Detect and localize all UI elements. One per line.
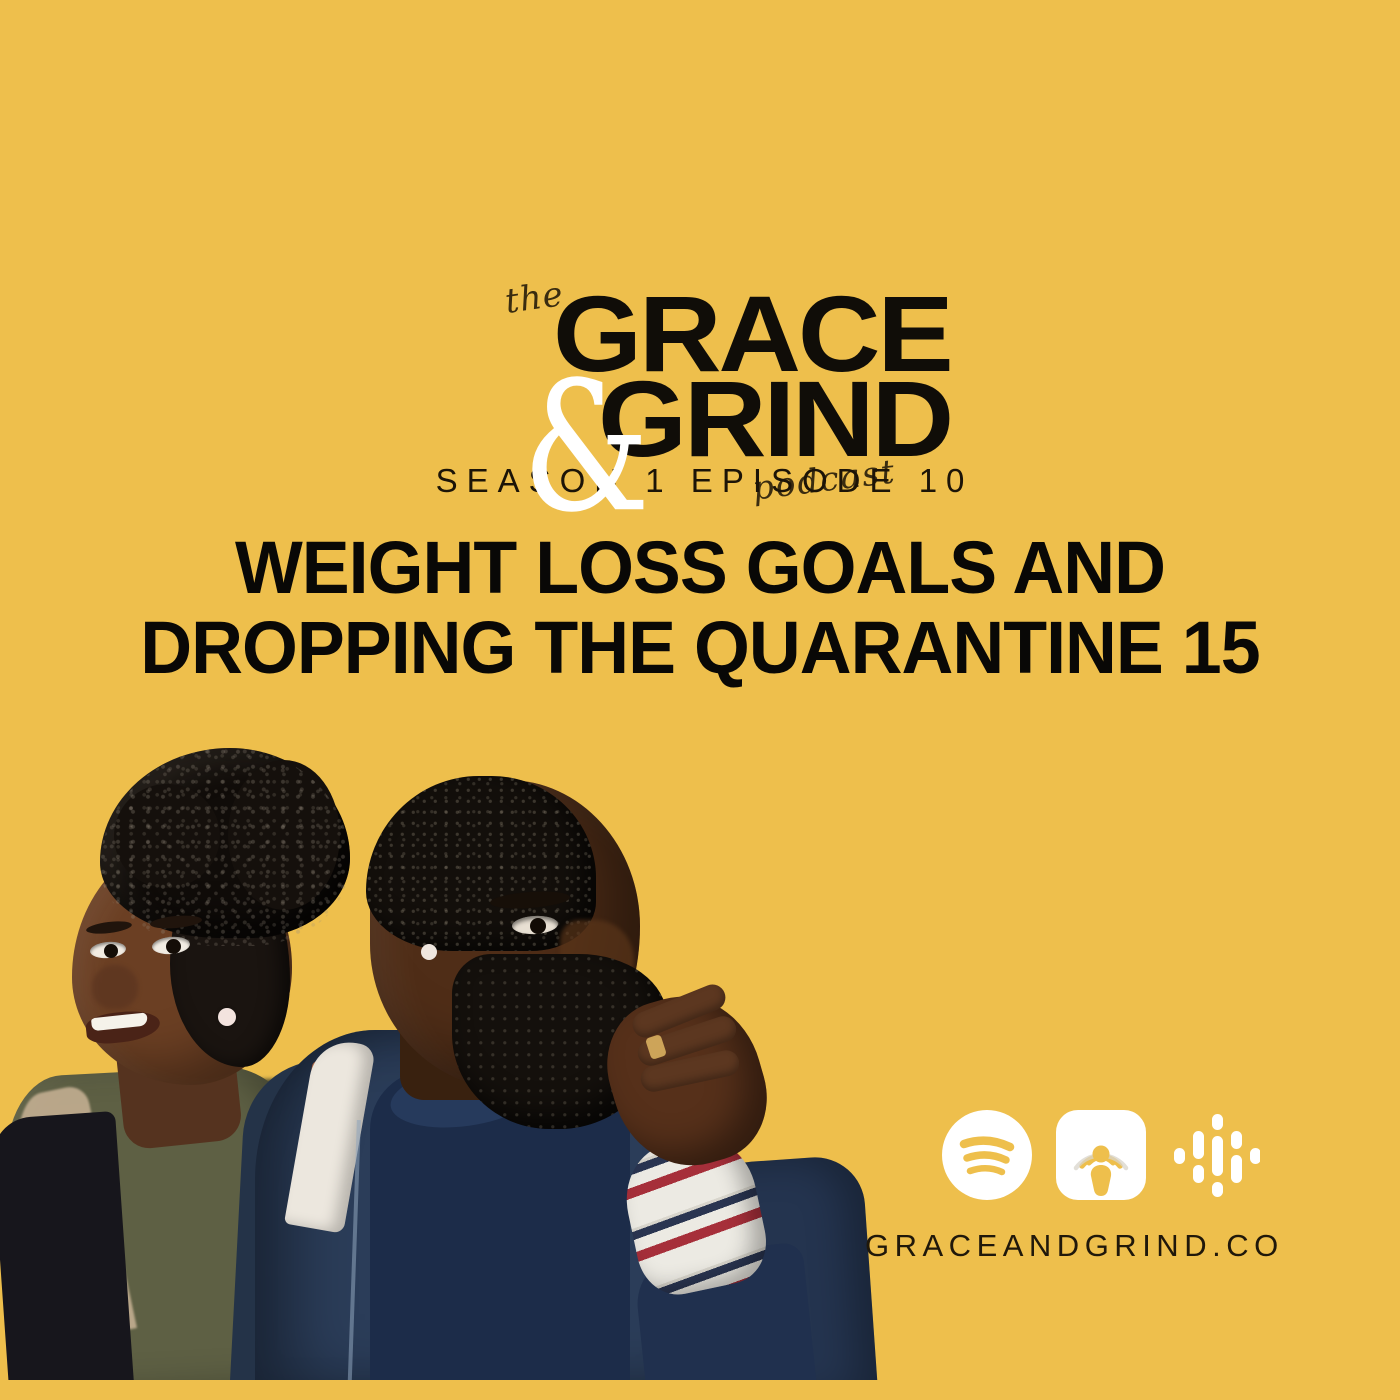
host-left-teeth xyxy=(91,1012,148,1031)
logo-ampersand-icon: & xyxy=(522,358,650,537)
host-left-pupil-right xyxy=(166,939,181,954)
host-left-pupil-left xyxy=(104,944,118,958)
host-left-earring xyxy=(218,1008,236,1026)
episode-title-line-1: WEIGHT LOSS GOALS AND xyxy=(21,528,1379,608)
podcast-logo: the GRACE & GRIND podcast xyxy=(0,130,1400,395)
apple-podcasts-icon[interactable] xyxy=(1056,1110,1146,1200)
host-left-nose xyxy=(92,965,138,1009)
episode-title-line-2: DROPPING THE QUARANTINE 15 xyxy=(21,608,1379,688)
website-url[interactable]: GRACEANDGRIND.CO xyxy=(860,1228,1280,1264)
platform-icon-row xyxy=(942,1110,1260,1200)
logo-word-grind: GRIND xyxy=(598,373,951,466)
hosts-photo xyxy=(0,740,900,1390)
host-right-pupil xyxy=(530,918,546,934)
google-podcasts-icon[interactable] xyxy=(1170,1110,1260,1200)
podcast-episode-cover: the GRACE & GRIND podcast SEASON 1 EPISO… xyxy=(0,0,1400,1400)
photo-bottom-band xyxy=(0,1380,900,1390)
host-right-hair-texture xyxy=(366,776,596,951)
host-right-ear-stud xyxy=(421,944,437,960)
host-left-inner-top xyxy=(0,1111,135,1390)
episode-title: WEIGHT LOSS GOALS AND DROPPING THE QUARA… xyxy=(21,528,1379,688)
spotify-icon[interactable] xyxy=(942,1110,1032,1200)
season-episode-label: SEASON 1 EPISODE 10 xyxy=(0,462,1400,500)
